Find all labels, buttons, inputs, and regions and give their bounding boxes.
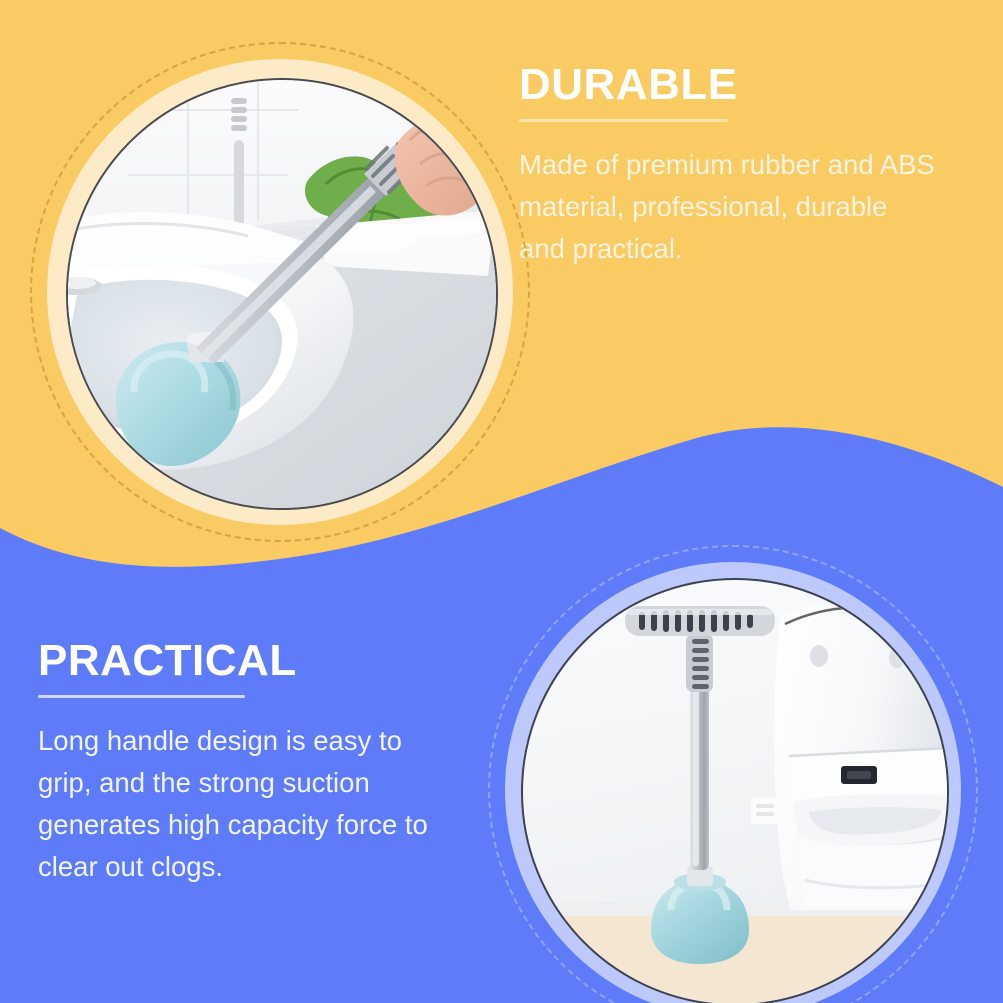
- plunger-standing-beside-toilet-photo: [521, 578, 949, 1003]
- practical-heading: PRACTICAL: [38, 638, 458, 684]
- durable-divider: [519, 119, 728, 122]
- durable-body-text: Made of premium rubber and ABS material,…: [519, 144, 939, 269]
- durable-section: DURABLE Made of premium rubber and ABS m…: [519, 62, 939, 270]
- practical-body-text: Long handle design is easy to grip, and …: [38, 720, 458, 887]
- t-handle-crossbar: [625, 606, 775, 636]
- practical-divider: [38, 695, 245, 698]
- toilet-seat: [789, 748, 947, 845]
- plunger-in-toilet-bowl-photo: [66, 78, 498, 510]
- durable-heading: DURABLE: [519, 62, 939, 108]
- product-feature-infographic: DURABLE Made of premium rubber and ABS m…: [0, 0, 1003, 1003]
- practical-section: PRACTICAL Long handle design is easy to …: [38, 638, 458, 887]
- wall-bracket: [751, 798, 779, 824]
